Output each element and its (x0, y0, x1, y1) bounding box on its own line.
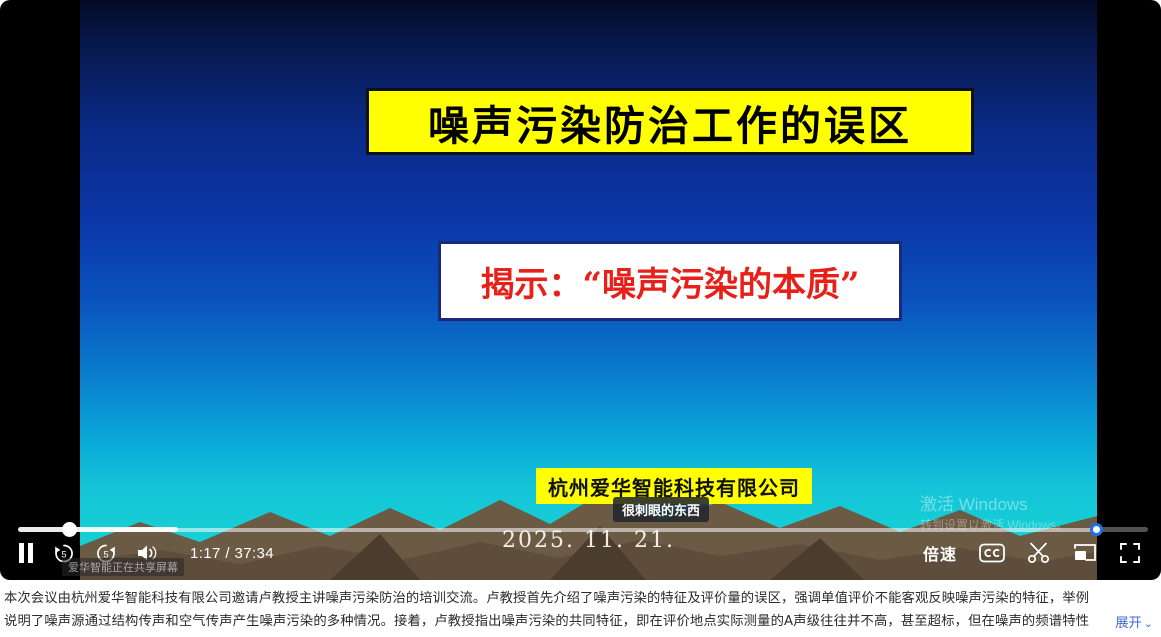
pause-button[interactable] (18, 540, 34, 566)
screen-share-watermark: 爱华智能正在共享屏幕 (62, 558, 184, 576)
player-control-bar[interactable]: 5 5 1:17 / 37:34 爱华智能正在共享屏幕 (0, 522, 1161, 580)
video-player[interactable]: 噪声污染防治工作的误区 揭示：“噪声污染的本质” 杭州爱华智能科技有限公司 20… (0, 0, 1161, 580)
time-display: 1:17 / 37:34 (190, 545, 274, 562)
volume-slider-left-handle[interactable] (62, 522, 77, 537)
chevron-down-icon: ⌄ (1144, 617, 1153, 630)
playback-speed-button[interactable]: 倍速 (923, 540, 957, 566)
slide-subtitle: 揭示：“噪声污染的本质” (480, 257, 859, 306)
picture-in-picture-icon[interactable] (1073, 540, 1097, 566)
volume-slider-right-handle[interactable] (1090, 523, 1103, 536)
captions-cc-icon[interactable] (979, 540, 1005, 566)
description-text: 本次会议由杭州爱华智能科技有限公司邀请卢教授主讲噪声污染防治的培训交流。卢教授首… (4, 587, 1089, 635)
expand-label: 展开 (1115, 616, 1142, 631)
windows-watermark-title: 激活 Windows (920, 494, 1068, 517)
slider-row (0, 522, 1161, 538)
annotation-tooltip: 很刺眼的东西 (613, 497, 709, 522)
slide-title: 噪声污染防治工作的误区 (428, 92, 912, 152)
slide-subtitle-box: 揭示：“噪声污染的本质” (438, 241, 902, 321)
fullscreen-icon[interactable] (1119, 540, 1141, 566)
progress-bar-track[interactable] (104, 528, 1097, 532)
control-bar-right-group: 倍速 (923, 540, 1141, 566)
scissors-clip-icon[interactable] (1027, 540, 1051, 566)
slide-title-banner: 噪声污染防治工作的误区 (366, 88, 974, 155)
volume-slider-right[interactable] (1090, 527, 1148, 532)
video-description-panel: 本次会议由杭州爱华智能科技有限公司邀请卢教授主讲噪声污染防治的培训交流。卢教授首… (0, 584, 1161, 637)
video-surface[interactable]: 噪声污染防治工作的误区 揭示：“噪声污染的本质” 杭州爱华智能科技有限公司 20… (80, 0, 1097, 580)
expand-description-button[interactable]: 展开⌄ (1103, 612, 1153, 631)
